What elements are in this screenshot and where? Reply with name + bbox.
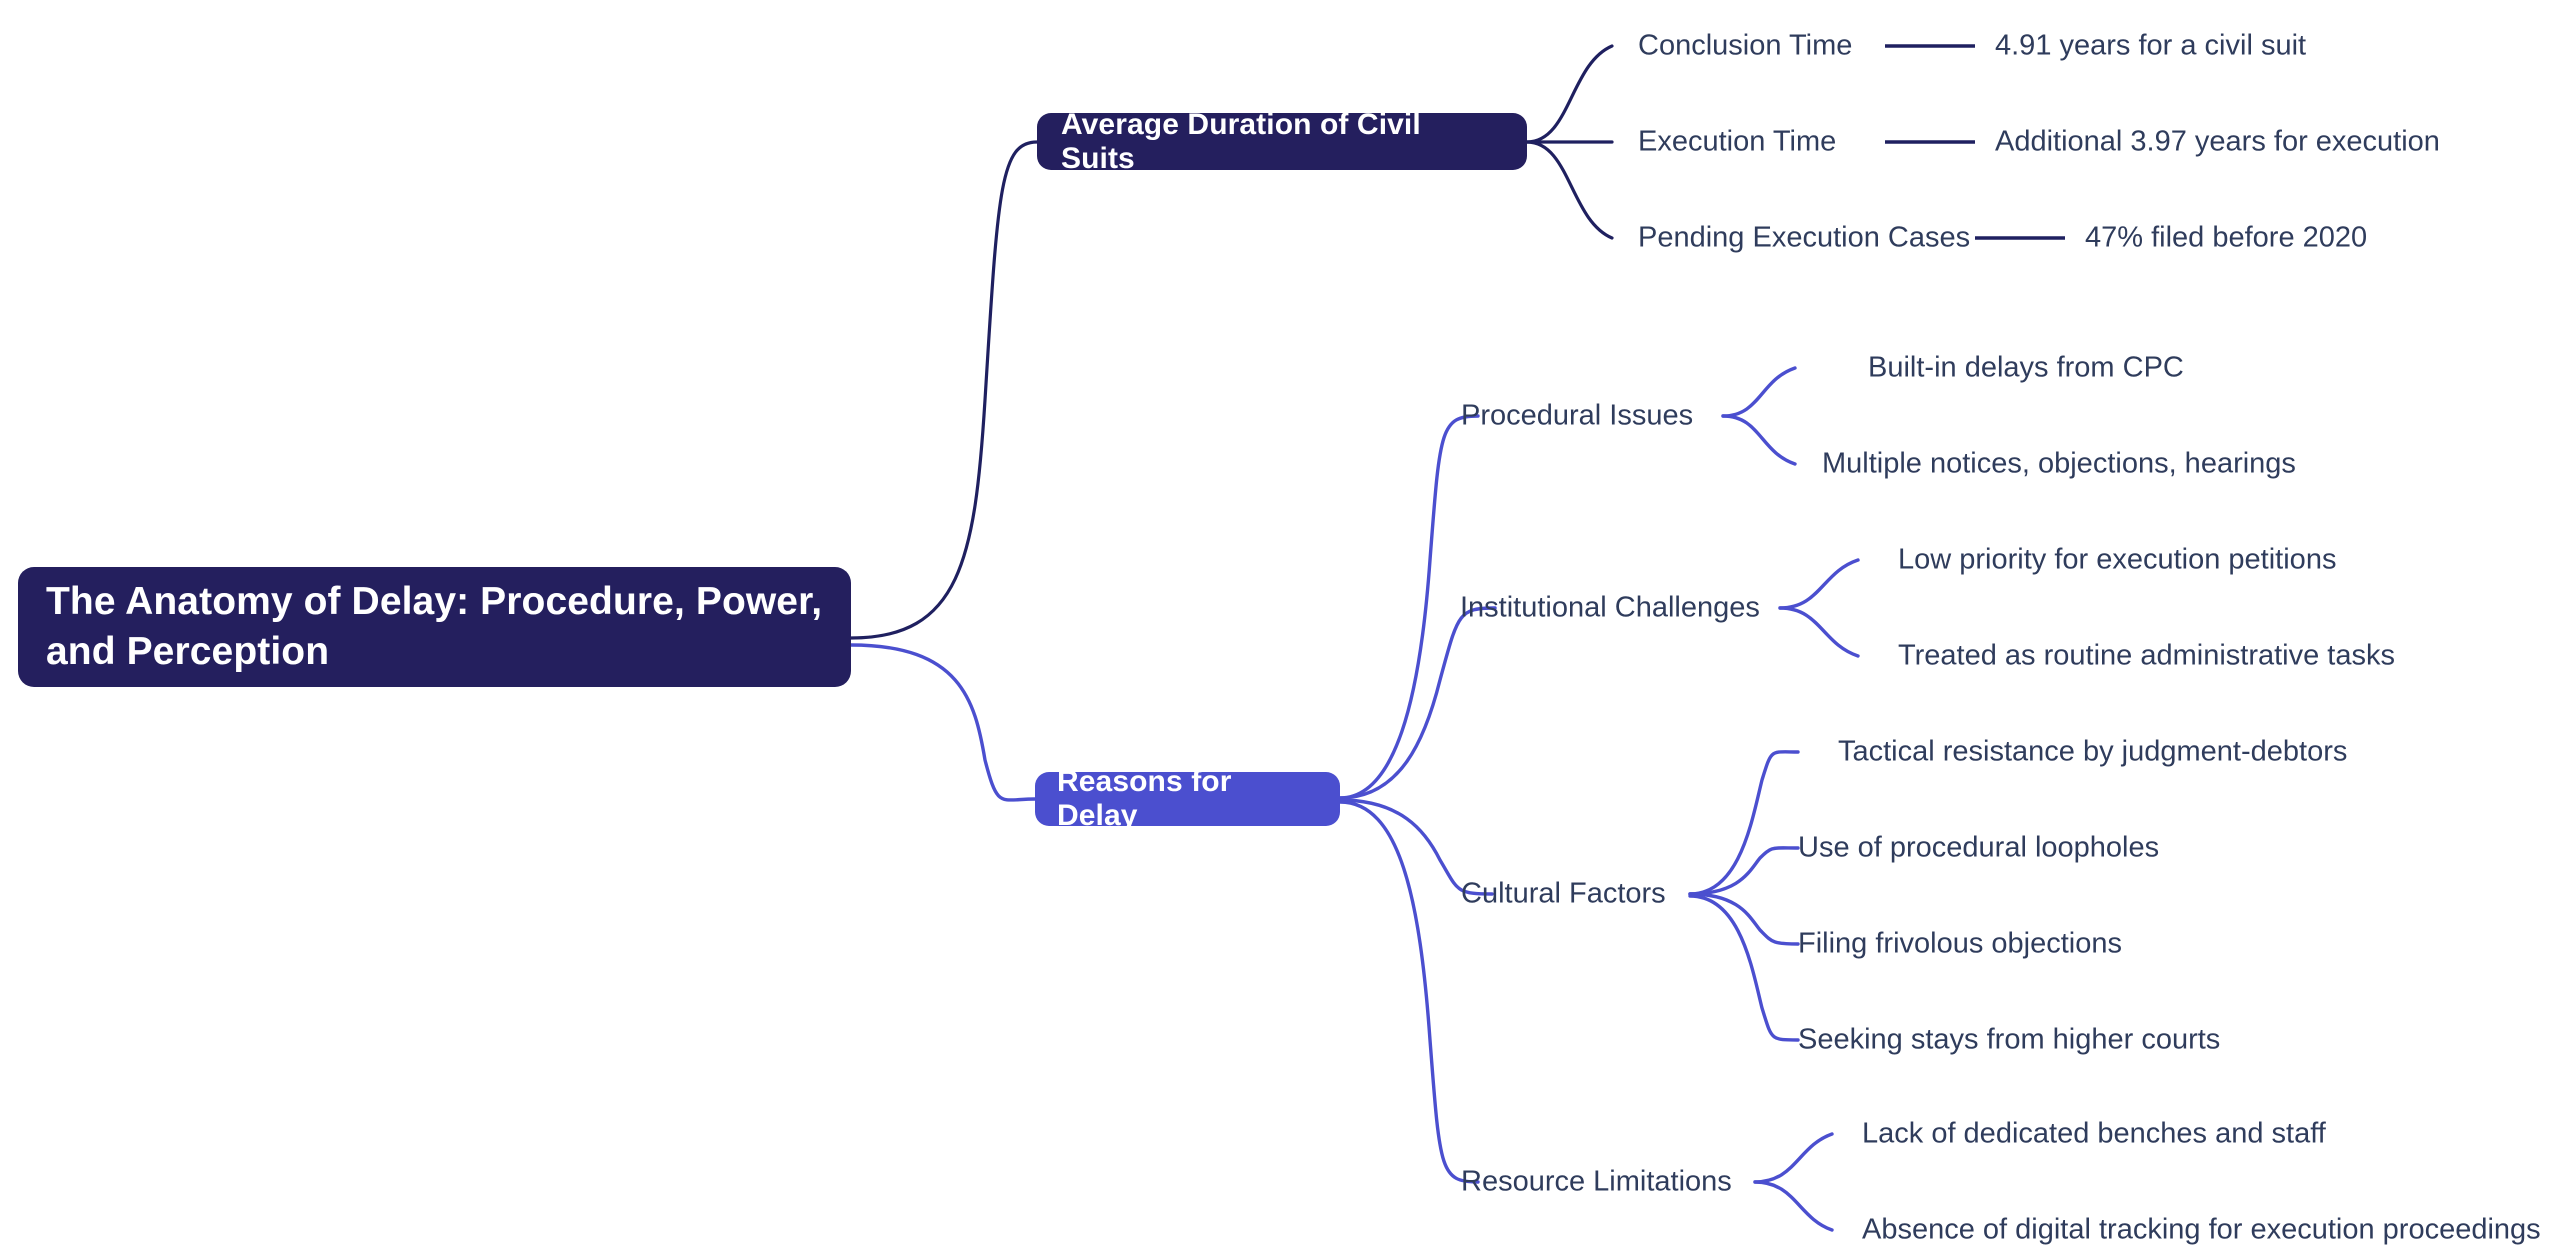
edge-average-to-conclusion-time: [1527, 46, 1612, 142]
leaf-filing-frivolous-objections[interactable]: Filing frivolous objections: [1798, 930, 2122, 959]
branch-node-reasons-for-delay[interactable]: Reasons for Delay: [1035, 772, 1340, 826]
leaf-resource-limitations[interactable]: Resource Limitations: [1461, 1168, 1732, 1197]
mindmap-canvas: The Anatomy of Delay: Procedure, Power, …: [0, 0, 2560, 1258]
leaf-low-priority-for-execution-petitions[interactable]: Low priority for execution petitions: [1898, 546, 2336, 575]
leaf-execution-time[interactable]: Execution Time: [1638, 128, 1836, 157]
leaf-seeking-stays-from-higher-courts[interactable]: Seeking stays from higher courts: [1798, 1026, 2220, 1055]
edge-resource-to-absence-of-tracking: [1755, 1182, 1832, 1230]
leaf-cultural-factors[interactable]: Cultural Factors: [1461, 880, 1666, 909]
root-node-label: The Anatomy of Delay: Procedure, Power, …: [46, 577, 823, 677]
leaf-procedural-issues[interactable]: Procedural Issues: [1461, 402, 1693, 431]
edge-cultural-to-frivolous-objections: [1690, 894, 1798, 944]
edge-institutional-to-routine-tasks: [1780, 608, 1858, 656]
edge-reasons-to-resource-limitations: [1340, 802, 1478, 1182]
leaf-absence-of-digital-tracking[interactable]: Absence of digital tracking for executio…: [1862, 1216, 2541, 1245]
branch-node-average-duration-of-civil-suits[interactable]: Average Duration of Civil Suits: [1037, 113, 1527, 170]
leaf-multiple-notices-objections-hearings[interactable]: Multiple notices, objections, hearings: [1822, 450, 2296, 479]
leaf-lack-of-dedicated-benches-and-staff[interactable]: Lack of dedicated benches and staff: [1862, 1120, 2326, 1149]
edge-resource-to-lack-of-benches: [1755, 1134, 1832, 1182]
edge-average-to-pending-cases: [1527, 142, 1612, 238]
leaf-use-of-procedural-loopholes[interactable]: Use of procedural loopholes: [1798, 834, 2159, 863]
leaf-pending-execution-cases[interactable]: Pending Execution Cases: [1638, 224, 1970, 253]
edge-reasons-to-institutional-challenges: [1340, 608, 1495, 798]
branch-node-label: Average Duration of Civil Suits: [1061, 108, 1503, 176]
leaf-treated-as-routine-administrative-tasks[interactable]: Treated as routine administrative tasks: [1898, 642, 2395, 671]
branch-node-label: Reasons for Delay: [1057, 765, 1318, 833]
leaf-tactical-resistance-by-judgment-debtors[interactable]: Tactical resistance by judgment-debtors: [1838, 738, 2347, 767]
leaf-institutional-challenges[interactable]: Institutional Challenges: [1460, 594, 1760, 623]
edge-cultural-to-seeking-stays: [1690, 896, 1798, 1040]
edge-root-to-average-duration: [851, 142, 1037, 638]
edge-reasons-to-procedural-issues: [1340, 416, 1478, 798]
edge-cultural-to-tactical-resistance: [1690, 752, 1798, 894]
edge-procedural-to-builtin-delays: [1723, 368, 1795, 416]
edge-cultural-to-procedural-loopholes: [1690, 848, 1798, 894]
leaf-value-execution-time[interactable]: Additional 3.97 years for execution: [1995, 128, 2440, 157]
root-node[interactable]: The Anatomy of Delay: Procedure, Power, …: [18, 567, 851, 687]
leaf-built-in-delays-from-cpc[interactable]: Built-in delays from CPC: [1868, 354, 2184, 383]
leaf-value-pending-execution-cases[interactable]: 47% filed before 2020: [2085, 224, 2367, 253]
edge-institutional-to-low-priority: [1780, 560, 1858, 608]
leaf-conclusion-time[interactable]: Conclusion Time: [1638, 32, 1852, 61]
edge-root-to-reasons-for-delay: [851, 645, 1035, 800]
edge-procedural-to-multiple-notices: [1723, 416, 1795, 464]
leaf-value-conclusion-time[interactable]: 4.91 years for a civil suit: [1995, 32, 2306, 61]
